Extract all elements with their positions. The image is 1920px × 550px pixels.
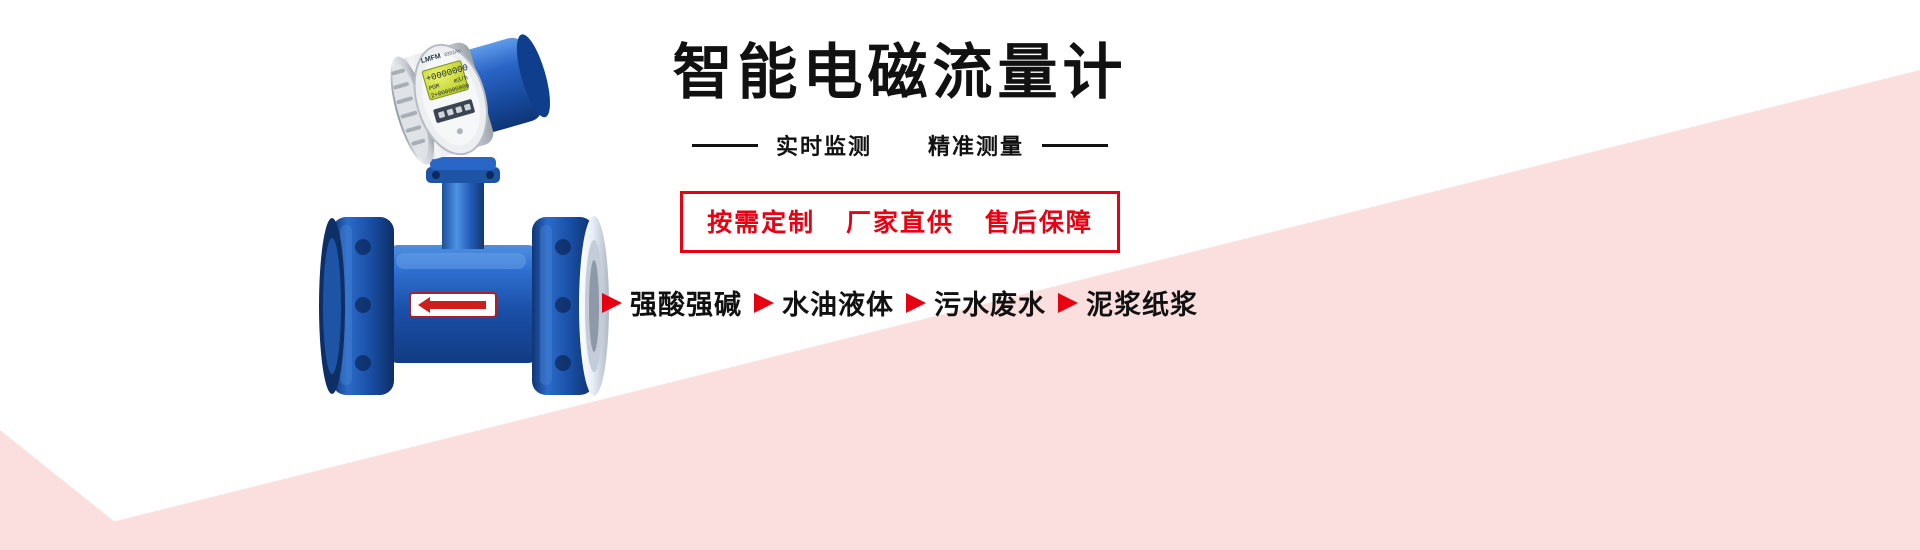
rule-right-icon bbox=[1042, 144, 1108, 147]
feature-list: 强酸强碱 水油液体 污水废水 泥浆纸浆 bbox=[600, 283, 1200, 322]
subtitle-row: 实时监测 精准测量 bbox=[600, 129, 1200, 161]
transmitter-housing: +0000000 PGM 2+000000000 m3/h LMFM 8201A… bbox=[382, 19, 561, 169]
subtitle-right: 精准测量 bbox=[928, 129, 1024, 161]
promo-banner: +0000000 PGM 2+000000000 m3/h LMFM 8201A… bbox=[0, 0, 1920, 550]
promo-item-3: 售后保障 bbox=[985, 209, 1093, 237]
copy-block: 智能电磁流量计 实时监测 精准测量 按需定制 厂家直供 售后保障 强酸强碱 水油… bbox=[600, 38, 1200, 348]
feature-label-0: 强酸强碱 bbox=[630, 283, 742, 322]
triangle-bullet-icon bbox=[1058, 293, 1078, 313]
feature-label-1: 水油液体 bbox=[782, 283, 894, 322]
feature-item-3: 泥浆纸浆 bbox=[1058, 283, 1198, 322]
right-flange bbox=[532, 216, 609, 396]
promo-item-1: 按需定制 bbox=[707, 209, 815, 237]
triangle-bullet-icon bbox=[602, 293, 622, 313]
triangle-bullet-icon bbox=[754, 293, 774, 313]
flowmeter-illustration: +0000000 PGM 2+000000000 m3/h LMFM 8201A… bbox=[300, 5, 630, 425]
transmitter-neck bbox=[426, 157, 500, 249]
feature-item-2: 污水废水 bbox=[906, 283, 1046, 322]
rule-left-icon bbox=[692, 144, 758, 147]
feature-item-1: 水油液体 bbox=[754, 283, 894, 322]
flow-direction-label bbox=[410, 293, 496, 317]
triangle-bullet-icon bbox=[906, 293, 926, 313]
left-flange bbox=[319, 217, 394, 395]
subtitle-left: 实时监测 bbox=[776, 129, 872, 161]
promo-badge: 按需定制 厂家直供 售后保障 bbox=[680, 191, 1120, 253]
feature-item-0: 强酸强碱 bbox=[602, 283, 742, 322]
feature-label-3: 泥浆纸浆 bbox=[1086, 283, 1198, 322]
promo-item-2: 厂家直供 bbox=[846, 209, 954, 237]
feature-label-2: 污水废水 bbox=[934, 283, 1046, 322]
page-title: 智能电磁流量计 bbox=[600, 38, 1200, 107]
